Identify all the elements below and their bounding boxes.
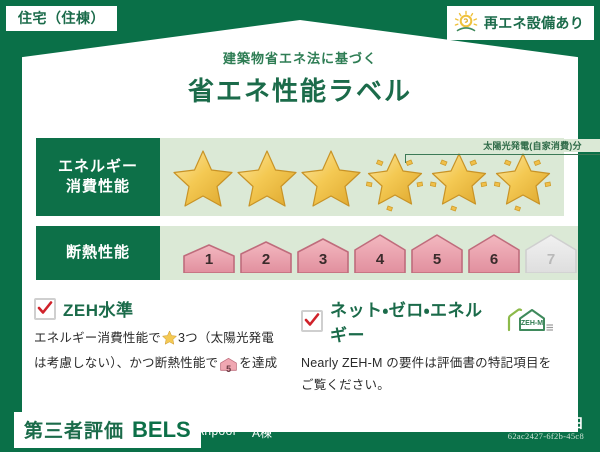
star-1	[172, 142, 234, 212]
star-6-solar	[492, 142, 554, 212]
label-title-block: 建築物省エネ法に基づく 省エネ性能ラベル	[0, 48, 600, 108]
energy-performance-row: エネルギー 消費性能	[36, 138, 564, 216]
zeh-standard-header: ZEH水準	[34, 296, 287, 321]
insulation-label-text: 断熱性能	[66, 243, 130, 263]
net-zero-header: ネット・ゼロ・エネルギー ZEH-M	[301, 296, 554, 346]
building-type-text: 住宅（住棟）	[18, 10, 105, 26]
insulation-level-7-number: 7	[524, 251, 578, 268]
insulation-level-scale: 1 2 3	[160, 230, 578, 276]
renewable-badge-label: 再エネ設備あり	[484, 13, 584, 33]
inline-star-icon	[162, 330, 177, 353]
label-main-title: 省エネ性能ラベル	[0, 71, 600, 108]
check-icon	[304, 312, 320, 328]
insulation-level-6: 6	[467, 233, 521, 273]
third-party-eval-label: 第三者評価	[24, 416, 124, 443]
insulation-level-1: 1	[182, 243, 236, 273]
insulation-level-3: 3	[296, 237, 350, 273]
energy-label-line1: エネルギー	[58, 157, 138, 177]
star-rating	[160, 138, 564, 216]
label-subtitle: 建築物省エネ法に基づく	[0, 48, 600, 67]
zeh-standard-column: ZEH水準 エネルギー消費性能で3つ（太陽光発電は考慮しない）、かつ断熱性能で5…	[34, 296, 301, 396]
net-zero-description: Nearly ZEH-M の要件は評価書の特記項目をご覧ください。	[301, 353, 554, 396]
energy-label-line2: 消費性能	[66, 177, 130, 197]
evaluation-id: 62ac2427-6f2b-45c8	[508, 431, 584, 441]
insulation-level-1-number: 1	[182, 251, 236, 268]
criteria-columns: ZEH水準 エネルギー消費性能で3つ（太陽光発電は考慮しない）、かつ断熱性能で5…	[34, 296, 568, 396]
insulation-performance-row: 断熱性能	[36, 226, 564, 280]
renewable-equipment-badge: 再エネ設備あり	[447, 6, 594, 40]
insulation-performance-label: 断熱性能	[36, 226, 160, 280]
energy-performance-label: エネルギー 消費性能	[36, 138, 160, 216]
bels-certification-badge: 第三者評価 BELS	[14, 412, 201, 448]
insulation-level-3-number: 3	[296, 251, 350, 268]
bels-logo-text: BELS	[132, 417, 191, 443]
zeh-text-part1: エネルギー消費性能で	[34, 331, 161, 345]
inline-insulation-level: 5	[220, 362, 237, 377]
building-type-tag: 住宅（住棟）	[6, 6, 117, 31]
star-2	[236, 142, 298, 212]
net-zero-energy-column: ネット・ゼロ・エネルギー ZEH-M Nearly ZEH-M の要件は評価	[301, 296, 568, 396]
insulation-level-7: 7	[524, 233, 578, 273]
insulation-level-2: 2	[239, 240, 293, 273]
energy-performance-panel: 太陽光発電(自家消費)分	[160, 138, 564, 216]
zeh-text-part2: は考慮しない）、かつ断熱性能で	[34, 356, 218, 370]
star-5-solar	[428, 142, 490, 212]
building-unit: A棟	[252, 424, 272, 441]
star-4-solar	[364, 142, 426, 212]
insulation-level-6-number: 6	[467, 251, 521, 268]
building-name: Anpool	[196, 424, 236, 438]
zeh-standard-description: エネルギー消費性能で3つ（太陽光発電は考慮しない）、かつ断熱性能で5を達成	[34, 328, 287, 378]
net-zero-checkbox[interactable]	[301, 310, 323, 332]
energy-performance-label: 住宅（住棟） 再エネ設備あり 建築物省エネ法に基づく	[0, 0, 600, 452]
zeh-text-stars: 3つ（太陽光発電	[178, 331, 274, 345]
zeh-text-part3: を達成	[239, 356, 277, 370]
inline-insulation-badge: 5	[220, 357, 237, 379]
check-icon	[37, 300, 53, 316]
svg-text:ZEH-M: ZEH-M	[521, 320, 543, 327]
zeh-m-logo-icon: ZEH-M	[506, 306, 554, 337]
star-3	[300, 142, 362, 212]
net-zero-title: ネット・ゼロ・エネルギー	[330, 296, 499, 346]
insulation-level-4-number: 4	[353, 251, 407, 268]
sun-icon	[453, 10, 479, 36]
insulation-level-2-number: 2	[239, 251, 293, 268]
insulation-level-5: 5	[410, 233, 464, 273]
performance-rows: エネルギー 消費性能	[36, 138, 564, 290]
insulation-level-5-number: 5	[410, 251, 464, 268]
evaluation-date: 評価日 2025年12月26日	[439, 413, 584, 432]
zeh-standard-checkbox[interactable]	[34, 298, 56, 320]
zeh-standard-title: ZEH水準	[63, 296, 134, 321]
insulation-level-4: 4	[353, 233, 407, 273]
insulation-performance-panel: 1 2 3	[160, 226, 578, 280]
label-footer: 第三者評価 BELS Anpool A棟 評価日 2025年12月26日 62a…	[0, 404, 600, 452]
